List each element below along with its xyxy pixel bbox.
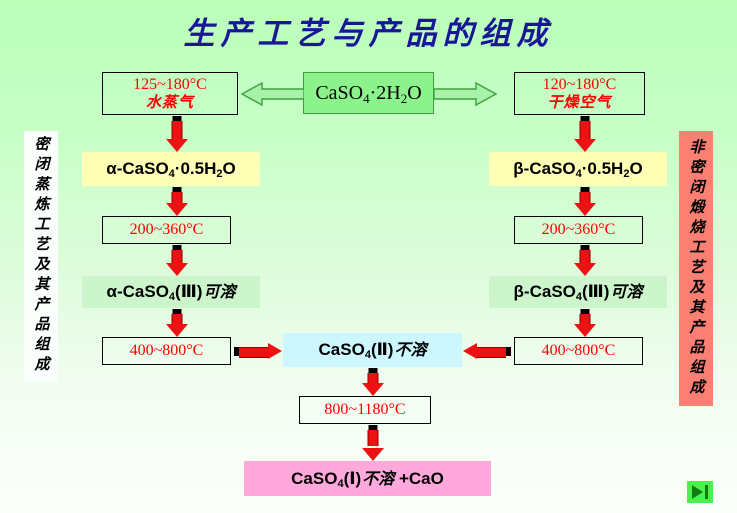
right-condition-2-box: 200~360°C — [514, 216, 643, 244]
final-condition-temperature: 800~1180°C — [324, 401, 405, 419]
play-triangle-icon — [692, 485, 703, 499]
source-compound-box: CaSO4·2H2O — [303, 72, 434, 114]
left-product-1-formula: α-CaSO4·0.5H2O — [106, 159, 235, 178]
right-product-2-formula: β-CaSO4(Ⅲ)可溶 — [514, 282, 643, 301]
merge-arrow-right-icon — [463, 343, 511, 359]
merge-arrow-down-1-icon — [362, 368, 384, 396]
left-arrow-1-icon — [166, 116, 188, 152]
left-product-2-box: α-CaSO4(Ⅲ)可溶 — [82, 276, 260, 308]
green-arrow-right-icon — [434, 82, 498, 106]
left-process-panel-label: 密闭蒸炼工艺及其产品组成 — [34, 136, 49, 376]
right-product-2-box: β-CaSO4(Ⅲ)可溶 — [489, 276, 667, 308]
left-condition-2-temperature: 200~360°C — [130, 221, 204, 239]
right-product-1-box: β-CaSO4·0.5H2O — [489, 152, 667, 186]
left-arrow-3-icon — [166, 245, 188, 276]
end-bar-icon — [705, 485, 708, 499]
left-arrow-4-icon — [166, 309, 188, 337]
left-arrow-2-icon — [166, 187, 188, 216]
merged-product-box: CaSO4(Ⅱ)不溶 — [283, 333, 462, 367]
skip-to-end-button[interactable] — [687, 481, 713, 503]
right-arrow-1-icon — [574, 116, 596, 152]
left-condition-2-box: 200~360°C — [102, 216, 231, 244]
page-title: 生产工艺与产品的组成 — [0, 8, 737, 53]
right-condition-1-temperature: 120~180°C — [543, 76, 617, 94]
merged-product-formula: CaSO4(Ⅱ)不溶 — [319, 340, 427, 359]
right-condition-1-medium: 干燥空气 — [547, 94, 611, 111]
merge-arrow-left-icon — [234, 343, 282, 359]
left-condition-3-box: 400~800°C — [102, 337, 231, 365]
source-compound-formula: CaSO4·2H2O — [315, 82, 421, 105]
left-condition-1-medium: 水蒸气 — [146, 94, 194, 111]
final-product-formula: CaSO4(Ⅰ)不溶 +CaO — [291, 469, 444, 488]
right-process-panel-label: 非密闭煅烧工艺及其产品组成 — [689, 139, 704, 399]
right-condition-3-box: 400~800°C — [514, 337, 643, 365]
right-arrow-3-icon — [574, 245, 596, 276]
left-condition-1-box: 125~180°C 水蒸气 — [102, 72, 238, 115]
final-condition-box: 800~1180°C — [299, 396, 431, 424]
right-condition-3-temperature: 400~800°C — [542, 342, 616, 360]
left-product-1-box: α-CaSO4·0.5H2O — [82, 152, 260, 186]
right-arrow-2-icon — [574, 187, 596, 216]
merge-arrow-down-2-icon — [362, 425, 384, 461]
right-arrow-4-icon — [574, 309, 596, 337]
slide-canvas: 生产工艺与产品的组成 密闭蒸炼工艺及其产品组成 非密闭煅烧工艺及其产品组成 Ca… — [0, 0, 737, 513]
left-condition-1-temperature: 125~180°C — [133, 76, 207, 94]
right-process-panel: 非密闭煅烧工艺及其产品组成 — [679, 131, 713, 406]
right-condition-1-box: 120~180°C 干燥空气 — [514, 72, 645, 115]
right-product-1-formula: β-CaSO4·0.5H2O — [513, 159, 642, 178]
green-arrow-left-icon — [240, 82, 304, 106]
left-condition-3-temperature: 400~800°C — [130, 342, 204, 360]
left-product-2-formula: α-CaSO4(Ⅲ)可溶 — [107, 282, 236, 301]
right-condition-2-temperature: 200~360°C — [542, 221, 616, 239]
left-process-panel: 密闭蒸炼工艺及其产品组成 — [24, 131, 58, 381]
final-product-box: CaSO4(Ⅰ)不溶 +CaO — [244, 461, 491, 496]
